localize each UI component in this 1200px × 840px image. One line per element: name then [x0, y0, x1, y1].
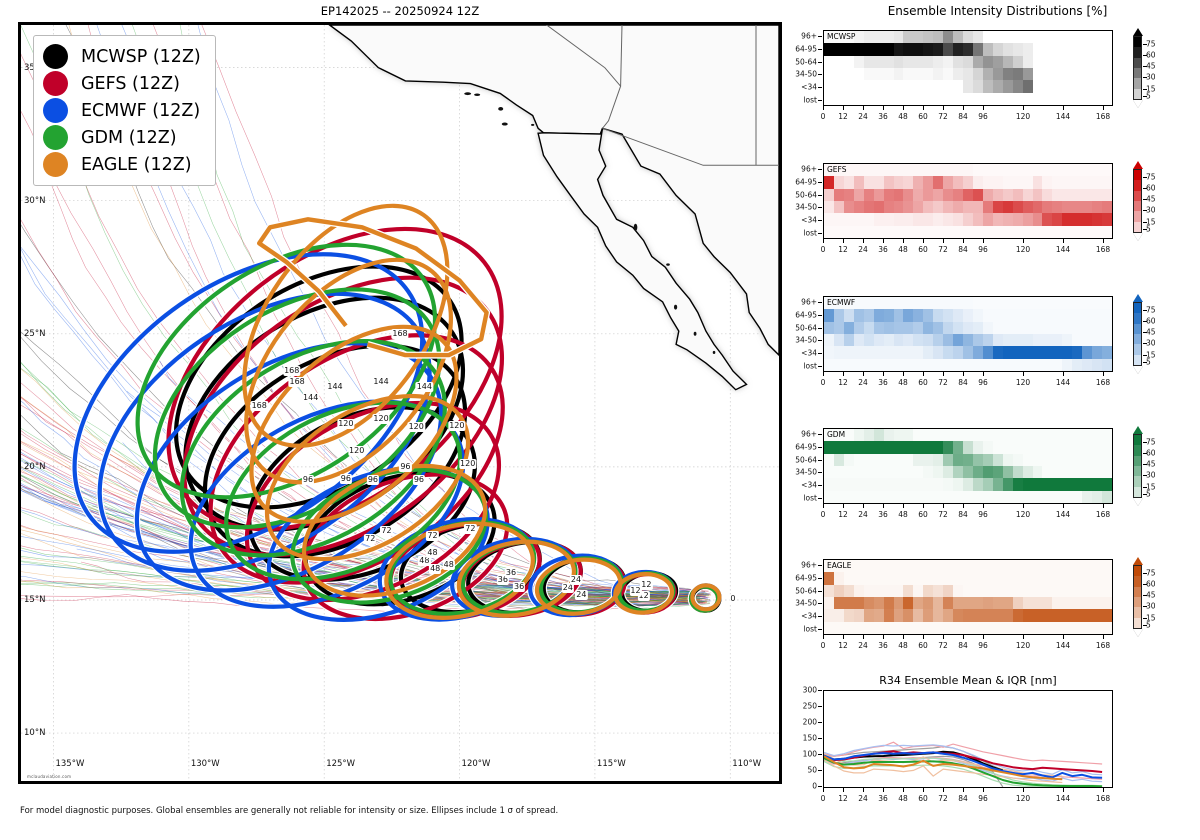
- colorbar-tick-label: 30: [1146, 471, 1156, 480]
- heatmap-x-tick: [1063, 106, 1064, 110]
- heatmap-cell: [1023, 31, 1034, 44]
- colorbar-tick: [1143, 199, 1147, 200]
- heatmap-y-label: 34-50: [795, 70, 817, 79]
- forecast-hour-label: 72: [380, 526, 392, 536]
- heatmap-x-tick: [823, 239, 824, 243]
- colorbar-tick-label: 30: [1146, 339, 1156, 348]
- heatmap-x-tick: [823, 635, 824, 639]
- colorbar-top-arrow-icon: [1133, 28, 1143, 36]
- heatmap-x-label: 36: [878, 112, 888, 121]
- colorbar-segment: [1134, 303, 1141, 313]
- map-legend: MCWSP (12Z)GEFS (12Z)ECMWF (12Z)GDM (12Z…: [33, 35, 216, 186]
- colorbar-tick: [1143, 55, 1147, 56]
- colorbar-segment: [1134, 58, 1141, 68]
- heatmap-y-tick: [818, 195, 822, 196]
- heatmap-x-label: 12: [838, 245, 848, 254]
- heatmap-cell: [1102, 359, 1113, 372]
- heatmap-x-tick: [983, 635, 984, 639]
- footer-disclaimer: For model diagnostic purposes. Global en…: [20, 806, 558, 816]
- heatmap-x-tick: [843, 635, 844, 639]
- legend-swatch-ecmwf-icon: [43, 98, 68, 123]
- heatmap-x-tick: [963, 504, 964, 508]
- heatmap-x-tick: [923, 239, 924, 243]
- heatmap-plot-area: GDM: [823, 428, 1113, 504]
- r34-x-tick: [1023, 788, 1024, 792]
- colorbar-tick: [1143, 177, 1147, 178]
- heatmap-x-label: 84: [958, 112, 968, 121]
- heatmap-y-tick: [818, 182, 822, 183]
- island: [531, 124, 534, 126]
- heatmap-y-label: 50-64: [795, 57, 817, 66]
- r34-y-tick: [818, 738, 822, 739]
- intensity-panel-ecmwf[interactable]: ECMWF96+64-9550-6434-50<34lost0122436486…: [823, 296, 1113, 372]
- heatmap-x-tick: [883, 504, 884, 508]
- legend-label-eagle: EAGLE (12Z): [81, 155, 192, 175]
- colorbar-segment: [1134, 487, 1141, 497]
- colorbar-top-arrow-icon: [1133, 294, 1143, 302]
- heatmap-x-tick: [883, 239, 884, 243]
- colorbar-tick: [1143, 66, 1147, 67]
- heatmap-cell: [1102, 297, 1113, 310]
- map-lat-label: 25°N: [24, 329, 45, 339]
- r34-y-label: 250: [803, 702, 817, 711]
- heatmap-y-label: <34: [801, 83, 817, 92]
- heatmap-x-tick: [1023, 239, 1024, 243]
- colorbar-top-arrow-icon: [1133, 161, 1143, 169]
- colorbar-tick-label: 15: [1146, 217, 1156, 226]
- heatmap-cell: [1102, 478, 1113, 491]
- heatmap-cell: [1023, 56, 1034, 69]
- heatmap-x-label: 0: [821, 112, 826, 121]
- r34-x-tick: [1063, 788, 1064, 792]
- heatmap-x-label: 72: [938, 378, 948, 387]
- forecast-hour-label: 96: [399, 462, 411, 472]
- legend-item-ecmwf: ECMWF (12Z): [43, 97, 201, 124]
- heatmap-y-tick: [818, 629, 822, 630]
- forecast-hour-label: 168: [283, 366, 300, 376]
- forecast-hour-label: 12: [629, 586, 641, 596]
- heatmap-y-tick: [818, 603, 822, 604]
- forecast-hour-label: 36: [505, 568, 517, 578]
- heatmap-cell: [1102, 560, 1113, 573]
- colorbar-segment: [1134, 180, 1141, 190]
- heatmap-x-tick: [903, 239, 904, 243]
- heatmap-x-label: 72: [938, 112, 948, 121]
- heatmap-y-tick: [818, 62, 822, 63]
- watermark: mclaudaviation.com: [27, 774, 71, 779]
- colorbar-bottom-arrow-icon: [1133, 629, 1143, 637]
- heatmap-x-tick: [1063, 635, 1064, 639]
- heatmap-x-label: 72: [938, 641, 948, 650]
- heatmap-y-tick: [818, 591, 822, 592]
- map-lon-label: 125°W: [326, 759, 355, 769]
- colorbar-tick: [1143, 222, 1147, 223]
- colorbar-segment: [1134, 47, 1141, 57]
- intensity-panel-eagle[interactable]: EAGLE96+64-9550-6434-50<34lost0122436486…: [823, 559, 1113, 635]
- r34-x-label: 72: [938, 794, 948, 803]
- heatmap-plot-area: GEFS: [823, 163, 1113, 239]
- heatmap-y-label: lost: [803, 493, 817, 502]
- heatmap-x-label: 0: [821, 245, 826, 254]
- heatmap-y-label: <34: [801, 481, 817, 490]
- heatmap-cell: [1023, 68, 1034, 81]
- heatmap-y-tick: [818, 366, 822, 367]
- colorbar-tick-label: 60: [1146, 183, 1156, 192]
- heatmap-x-label: 72: [938, 510, 948, 519]
- heatmap-y-tick: [818, 328, 822, 329]
- heatmap-x-tick: [943, 635, 944, 639]
- colorbar-tick: [1143, 229, 1147, 230]
- heatmap-x-label: 48: [898, 245, 908, 254]
- forecast-hour-label: 0: [729, 594, 736, 604]
- r34-x-tick: [983, 788, 984, 792]
- heatmap-y-tick: [818, 460, 822, 461]
- colorbar-segment: [1134, 456, 1141, 466]
- forecast-hour-label: 96: [302, 475, 314, 485]
- colorbar-segment: [1134, 324, 1141, 334]
- r34-plot-area: [823, 690, 1113, 788]
- r34-x-tick: [943, 788, 944, 792]
- map-lon-label: 120°W: [462, 759, 491, 769]
- colorbar-segment: [1134, 576, 1141, 586]
- heatmap-x-tick: [863, 106, 864, 110]
- heatmap-x-label: 168: [1096, 641, 1110, 650]
- legend-swatch-eagle-icon: [43, 152, 68, 177]
- forecast-hour-label: 36: [513, 582, 525, 592]
- legend-label-mcwsp: MCWSP (12Z): [81, 47, 201, 67]
- r34-x-label: 96: [978, 794, 988, 803]
- intensity-colorbar-gefs: 51530456075: [1133, 161, 1142, 241]
- heatmap-y-label: 34-50: [795, 599, 817, 608]
- heatmap-x-tick: [883, 106, 884, 110]
- heatmap-x-tick: [1023, 372, 1024, 376]
- colorbar-tick-label: 60: [1146, 50, 1156, 59]
- heatmap-x-tick: [1023, 106, 1024, 110]
- heatmap-y-tick: [818, 36, 822, 37]
- heatmap-y-tick: [818, 578, 822, 579]
- colorbar-tick: [1143, 494, 1147, 495]
- heatmap-y-tick: [818, 87, 822, 88]
- heatmap-x-tick: [1103, 372, 1104, 376]
- r34-y-tick: [818, 770, 822, 771]
- r34-x-tick: [843, 788, 844, 792]
- heatmap-y-label: 64-95: [795, 443, 817, 452]
- r34-x-label: 24: [858, 794, 868, 803]
- heatmap-x-tick: [823, 504, 824, 508]
- heatmap-cell: [1102, 322, 1113, 335]
- heatmap-y-label: lost: [803, 624, 817, 633]
- heatmap-cell: [1102, 226, 1113, 239]
- heatmap-x-tick: [883, 635, 884, 639]
- colorbar-segment: [1134, 476, 1141, 486]
- forecast-hour-label: 144: [372, 377, 389, 387]
- heatmap-x-label: 144: [1056, 378, 1070, 387]
- heatmap-y-label: 96+: [801, 298, 817, 307]
- heatmap-y-tick: [818, 100, 822, 101]
- colorbar-top-arrow-icon: [1133, 426, 1143, 434]
- colorbar-segment: [1134, 435, 1141, 445]
- r34-y-label: 200: [803, 718, 817, 727]
- heatmap-y-tick: [818, 565, 822, 566]
- heatmap-x-label: 144: [1056, 641, 1070, 650]
- heatmap-y-label: 50-64: [795, 190, 817, 199]
- heatmap-x-label: 36: [878, 641, 888, 650]
- intensity-panel-mcwsp[interactable]: MCWSP96+64-9550-6434-50<34lost0122436486…: [823, 30, 1113, 106]
- heatmap-x-tick: [903, 372, 904, 376]
- heatmap-x-label: 120: [1016, 245, 1030, 254]
- heatmap-x-tick: [903, 106, 904, 110]
- heatmap-y-tick: [818, 74, 822, 75]
- legend-item-gefs: GEFS (12Z): [43, 70, 201, 97]
- heatmap-y-label: 34-50: [795, 203, 817, 212]
- forecast-hour-label: 144: [326, 382, 343, 392]
- colorbar-tick: [1143, 89, 1147, 90]
- heatmap-x-label: 168: [1096, 378, 1110, 387]
- heatmap-x-label: 36: [878, 510, 888, 519]
- heatmap-cell: [1102, 334, 1113, 347]
- colorbar-segment: [1134, 170, 1141, 180]
- island: [498, 107, 503, 111]
- heatmap-x-tick: [1103, 635, 1104, 639]
- r34-x-label: 168: [1096, 794, 1110, 803]
- heatmap-y-label: 96+: [801, 430, 817, 439]
- heatmap-x-label: 96: [978, 641, 988, 650]
- heatmap-x-label: 0: [821, 510, 826, 519]
- heatmap-x-label: 48: [898, 112, 908, 121]
- heatmap-x-tick: [1023, 504, 1024, 508]
- island: [634, 224, 638, 231]
- heatmap-x-tick: [1023, 635, 1024, 639]
- forecast-hour-label: 144: [416, 382, 433, 392]
- colorbar-tick: [1143, 343, 1147, 344]
- r34-x-tick: [903, 788, 904, 792]
- heatmap-x-tick: [983, 372, 984, 376]
- heatmap-x-label: 24: [858, 378, 868, 387]
- r34-x-label: 120: [1016, 794, 1030, 803]
- heatmap-x-label: 60: [918, 245, 928, 254]
- colorbar-segment: [1134, 566, 1141, 576]
- heatmap-y-label: 50-64: [795, 323, 817, 332]
- colorbar-segment: [1134, 68, 1141, 78]
- heatmap-x-tick: [863, 239, 864, 243]
- legend-swatch-gdm-icon: [43, 125, 68, 150]
- forecast-hour-label: 96: [367, 475, 379, 485]
- heatmap-x-tick: [843, 106, 844, 110]
- heatmap-x-label: 12: [838, 378, 848, 387]
- colorbar-top-arrow-icon: [1133, 557, 1143, 565]
- colorbar-tick-label: 45: [1146, 591, 1156, 600]
- heatmap-cell: [1102, 309, 1113, 322]
- heatmap-cell: [1102, 201, 1113, 214]
- heatmap-cell: [1102, 346, 1113, 359]
- map-lat-label: 30°N: [24, 196, 45, 206]
- r34-x-label: 60: [918, 794, 928, 803]
- heatmap-x-label: 144: [1056, 112, 1070, 121]
- heatmap-y-tick: [818, 220, 822, 221]
- heatmap-x-label: 12: [838, 112, 848, 121]
- forecast-hour-label: 120: [348, 446, 365, 456]
- colorbar-tick: [1143, 362, 1147, 363]
- heatmap-plot-area: MCWSP: [823, 30, 1113, 106]
- r34-y-label: 50: [807, 766, 817, 775]
- heatmap-x-tick: [823, 106, 824, 110]
- heatmap-x-tick: [943, 106, 944, 110]
- colorbar-tick: [1143, 96, 1147, 97]
- heatmap-y-label: 96+: [801, 165, 817, 174]
- heatmap-x-tick: [963, 106, 964, 110]
- forecast-hour-label: 12: [640, 580, 652, 590]
- island: [666, 263, 670, 265]
- heatmap-x-label: 120: [1016, 510, 1030, 519]
- heatmap-x-tick: [1063, 239, 1064, 243]
- heatmap-cell: [1102, 597, 1113, 610]
- legend-item-mcwsp: MCWSP (12Z): [43, 43, 201, 70]
- colorbar-tick: [1143, 487, 1147, 488]
- heatmap-y-label: 64-95: [795, 574, 817, 583]
- colorbar-tick-label: 75: [1146, 172, 1156, 181]
- colorbar-segment: [1134, 607, 1141, 617]
- heatmap-x-tick: [843, 239, 844, 243]
- heatmap-x-tick: [943, 372, 944, 376]
- colorbar-tick-label: 45: [1146, 460, 1156, 469]
- heatmap-x-label: 84: [958, 510, 968, 519]
- legend-swatch-gefs-icon: [43, 71, 68, 96]
- forecast-hour-label: 96: [413, 475, 425, 485]
- intensity-colorbar-ecmwf: 51530456075: [1133, 294, 1142, 374]
- heatmap-y-label: 50-64: [795, 455, 817, 464]
- heatmap-cell: [1102, 189, 1113, 202]
- colorbar-tick-label: 15: [1146, 613, 1156, 622]
- heatmap-y-label: 64-95: [795, 178, 817, 187]
- forecast-hour-label: 48: [426, 548, 438, 558]
- heatmap-y-label: lost: [803, 228, 817, 237]
- heatmap-x-label: 96: [978, 112, 988, 121]
- heatmap-y-label: 50-64: [795, 586, 817, 595]
- forecast-hour-label: 72: [364, 534, 376, 544]
- heatmap-x-label: 48: [898, 378, 908, 387]
- heatmap-y-tick: [818, 353, 822, 354]
- heatmap-x-label: 36: [878, 245, 888, 254]
- island: [694, 332, 697, 336]
- colorbar-tick: [1143, 321, 1147, 322]
- heatmap-y-tick: [818, 169, 822, 170]
- colorbar-tick-label: 75: [1146, 568, 1156, 577]
- heatmap-y-label: 64-95: [795, 45, 817, 54]
- forecast-track-map[interactable]: MCWSP (12Z)GEFS (12Z)ECMWF (12Z)GDM (12Z…: [18, 22, 782, 784]
- colorbar-tick-label: 45: [1146, 195, 1156, 204]
- colorbar-tick: [1143, 77, 1147, 78]
- heatmap-x-tick: [983, 239, 984, 243]
- colorbar-segment: [1134, 466, 1141, 476]
- island: [474, 94, 480, 96]
- heatmap-x-tick: [843, 372, 844, 376]
- colorbar-tick-label: 45: [1146, 62, 1156, 71]
- heatmap-x-tick: [963, 635, 964, 639]
- r34-panel[interactable]: R34 Ensemble Mean & IQR [nm]050100150200…: [823, 690, 1113, 788]
- heatmap-model-name: ECMWF: [827, 298, 855, 307]
- heatmap-model-name: GEFS: [827, 165, 847, 174]
- intensity-colorbar-eagle: 51530456075: [1133, 557, 1142, 637]
- colorbar-tick: [1143, 310, 1147, 311]
- heatmap-x-label: 12: [838, 510, 848, 519]
- heatmap-x-tick: [863, 635, 864, 639]
- forecast-hour-label: 24: [570, 575, 582, 585]
- colorbar-segment: [1134, 37, 1141, 47]
- intensity-colorbar-gdm: 51530456075: [1133, 426, 1142, 506]
- map-lat-label: 20°N: [24, 462, 45, 472]
- intensity-panel-gdm[interactable]: GDM96+64-9550-6434-50<34lost012243648607…: [823, 428, 1113, 504]
- heatmap-x-label: 120: [1016, 641, 1030, 650]
- intensity-panel-gefs[interactable]: GEFS96+64-9550-6434-50<34lost01224364860…: [823, 163, 1113, 239]
- colorbar-tick: [1143, 442, 1147, 443]
- heatmap-x-tick: [843, 504, 844, 508]
- r34-y-tick: [818, 786, 822, 787]
- heatmap-x-label: 24: [858, 510, 868, 519]
- heatmap-y-tick: [818, 340, 822, 341]
- forecast-hour-label: 168: [251, 401, 268, 411]
- colorbar-tick-label: 75: [1146, 39, 1156, 48]
- heatmap-cell: [1102, 491, 1113, 504]
- colorbar-tick-label: 30: [1146, 73, 1156, 82]
- map-lon-label: 115°W: [597, 759, 626, 769]
- heatmap-x-tick: [923, 372, 924, 376]
- colorbar-tick: [1143, 355, 1147, 356]
- forecast-hour-label: 72: [426, 531, 438, 541]
- colorbar-segment: [1134, 618, 1141, 628]
- heatmap-model-name: GDM: [827, 430, 845, 439]
- heatmap-x-label: 24: [858, 245, 868, 254]
- heatmap-x-label: 144: [1056, 510, 1070, 519]
- colorbar-tick-label: 60: [1146, 579, 1156, 588]
- heatmap-cell: [1102, 572, 1113, 585]
- colorbar-tick: [1143, 595, 1147, 596]
- colorbar-segment: [1134, 78, 1141, 88]
- r34-x-label: 84: [958, 794, 968, 803]
- heatmap-plot-area: ECMWF: [823, 296, 1113, 372]
- heatmap-x-tick: [923, 106, 924, 110]
- heatmap-x-tick: [943, 239, 944, 243]
- heatmap-x-tick: [1103, 106, 1104, 110]
- r34-x-tick: [823, 788, 824, 792]
- colorbar-tick: [1143, 464, 1147, 465]
- colorbar-tick: [1143, 332, 1147, 333]
- colorbar-segment: [1134, 313, 1141, 323]
- heatmap-cell: [1023, 43, 1034, 56]
- intensity-colorbar-mcwsp: 51530456075: [1133, 28, 1142, 108]
- colorbar-tick-label: 30: [1146, 602, 1156, 611]
- heatmap-x-label: 24: [858, 112, 868, 121]
- heatmap-plot-area: EAGLE: [823, 559, 1113, 635]
- heatmap-x-label: 60: [918, 641, 928, 650]
- heatmap-x-tick: [1063, 372, 1064, 376]
- colorbar-segment: [1134, 355, 1141, 365]
- heatmap-x-label: 168: [1096, 112, 1110, 121]
- legend-swatch-mcwsp-icon: [43, 44, 68, 69]
- r34-y-tick: [818, 754, 822, 755]
- heatmap-y-tick: [818, 498, 822, 499]
- heatmap-x-label: 96: [978, 378, 988, 387]
- r34-canvas: [824, 691, 1112, 787]
- heatmap-x-tick: [1063, 504, 1064, 508]
- heatmap-x-tick: [863, 504, 864, 508]
- colorbar-bottom-arrow-icon: [1133, 100, 1143, 108]
- colorbar-tick: [1143, 475, 1147, 476]
- heatmap-y-tick: [818, 233, 822, 234]
- heatmap-x-label: 0: [821, 378, 826, 387]
- heatmap-y-label: 64-95: [795, 311, 817, 320]
- heatmap-cell: [1102, 213, 1113, 226]
- land-mainland: [330, 25, 779, 355]
